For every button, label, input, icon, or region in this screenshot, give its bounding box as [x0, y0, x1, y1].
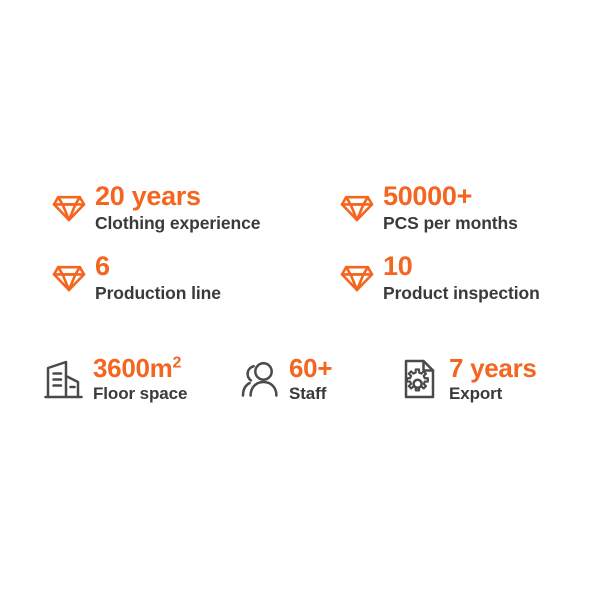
stats-grid-bottom: 3600m2 Floor space 60+ Staff: [44, 354, 596, 404]
stat-label: Product inspection: [383, 283, 540, 304]
diamond-icon: [52, 261, 86, 295]
stat-value-number: 3600m: [93, 353, 172, 383]
stat-text: 10 Product inspection: [383, 252, 540, 304]
stat-value: 10: [383, 252, 540, 281]
stat-value-superscript: 2: [172, 354, 181, 371]
stat-label: Staff: [289, 384, 332, 404]
stat-label: Clothing experience: [95, 213, 260, 234]
stats-grid-top: 20 years Clothing experience 50000+: [52, 182, 592, 304]
stat-value: 6: [95, 252, 221, 281]
diamond-icon: [340, 261, 374, 295]
stat-text: 6 Production line: [95, 252, 221, 304]
company-stats-infographic: 20 years Clothing experience 50000+: [0, 0, 600, 600]
stat-item-staff: 60+ Staff: [240, 354, 400, 404]
stat-text: 50000+ PCS per months: [383, 182, 518, 234]
diamond-icon: [52, 191, 86, 225]
diamond-icon: [340, 191, 374, 225]
stat-label: PCS per months: [383, 213, 518, 234]
stat-item-floor-space: 3600m2 Floor space: [44, 354, 240, 404]
stat-value: 20 years: [95, 182, 260, 211]
stat-value: 50000+: [383, 182, 518, 211]
stat-value: 7 years: [449, 354, 537, 382]
stat-value: 60+: [289, 354, 332, 382]
stat-item-export: 7 years Export: [400, 354, 590, 404]
document-gear-icon: [400, 357, 440, 401]
stat-value: 3600m2: [93, 354, 187, 382]
stat-label: Floor space: [93, 384, 187, 404]
stat-text: 7 years Export: [449, 354, 537, 404]
stat-item-production-line: 6 Production line: [52, 252, 340, 304]
stat-item-clothing-experience: 20 years Clothing experience: [52, 182, 340, 234]
stat-label: Export: [449, 384, 537, 404]
stat-text: 20 years Clothing experience: [95, 182, 260, 234]
stat-item-product-inspection: 10 Product inspection: [340, 252, 592, 304]
stat-text: 60+ Staff: [289, 354, 332, 404]
building-icon: [44, 357, 84, 401]
stat-text: 3600m2 Floor space: [93, 354, 187, 404]
stat-label: Production line: [95, 283, 221, 304]
stat-item-pcs-per-months: 50000+ PCS per months: [340, 182, 592, 234]
people-icon: [240, 357, 280, 401]
